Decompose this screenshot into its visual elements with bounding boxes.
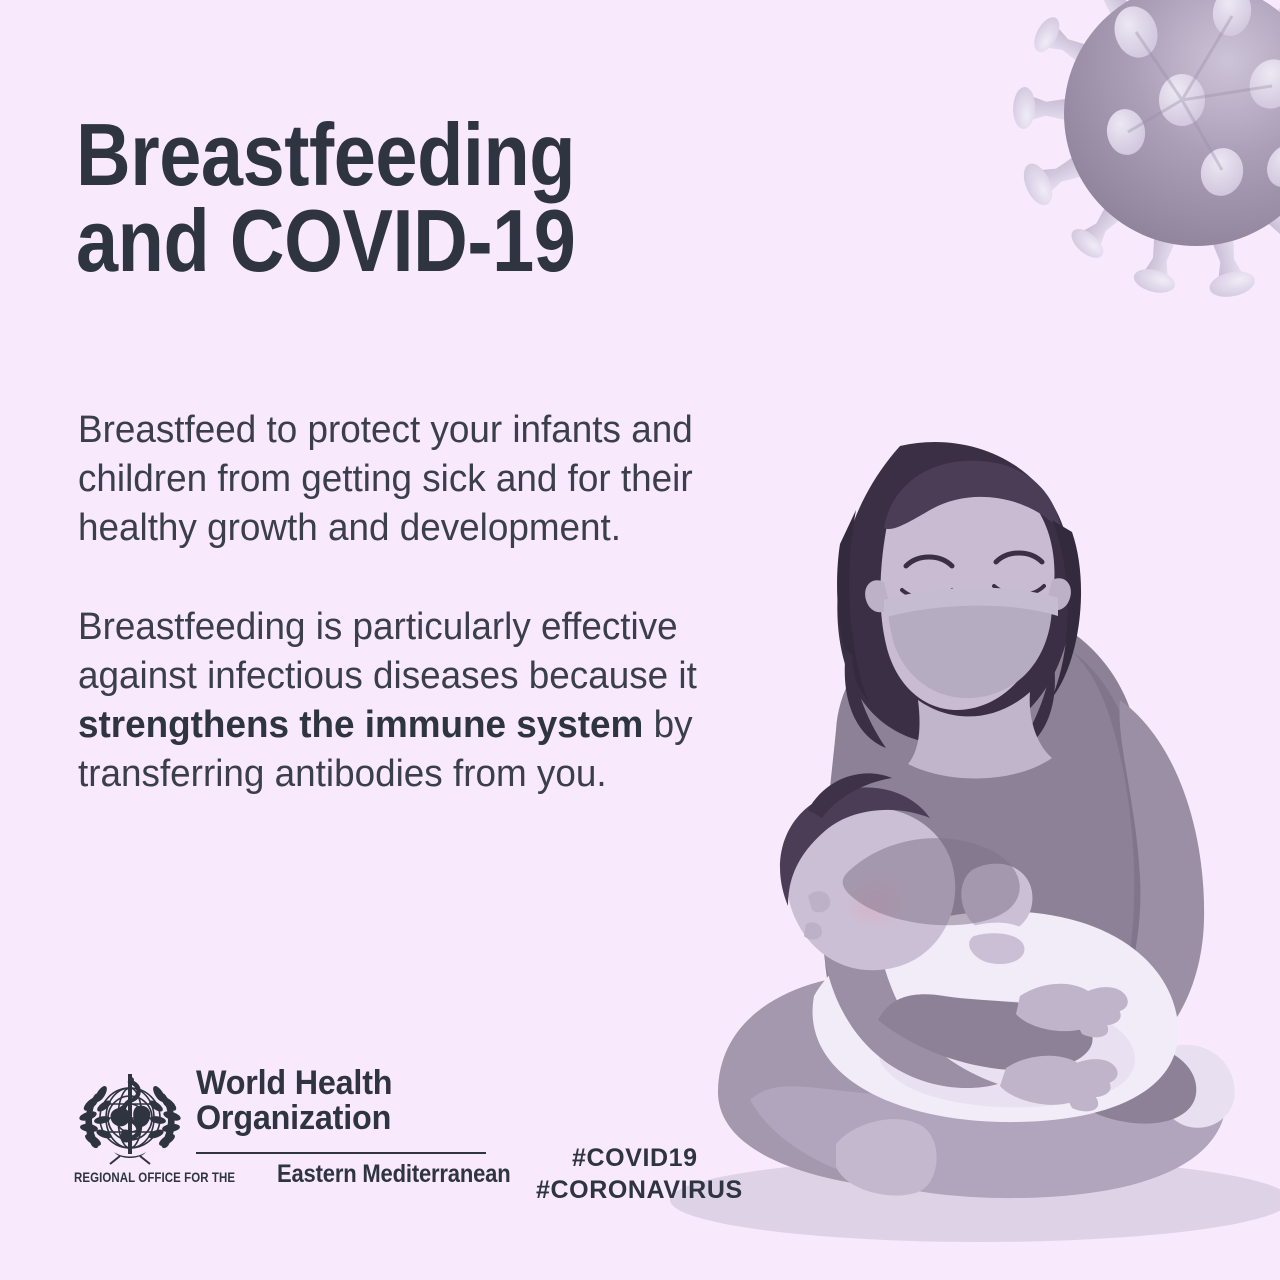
baby-ear (808, 891, 830, 912)
who-region-name: Eastern Mediterranean (277, 1160, 511, 1189)
who-name-line-1: World Health (196, 1066, 424, 1101)
paragraph-2: Breastfeeding is particularly effective … (78, 603, 796, 799)
who-name-line-2: Organization (196, 1101, 424, 1136)
shirt-drape (843, 838, 1020, 925)
mother-hair (837, 442, 1073, 744)
hashtag-block: #COVID19 #CORONAVIRUS (536, 1142, 743, 1206)
foot-left (836, 1119, 937, 1195)
ear-left (865, 580, 890, 612)
mother-face (880, 471, 1054, 710)
hair-side-left (837, 510, 868, 700)
arm-right (1100, 700, 1204, 1078)
hair-side-right (1052, 520, 1081, 698)
lash-left (902, 590, 952, 599)
who-name: World Health Organization (196, 1066, 424, 1135)
shirt-shadow (1070, 650, 1148, 1040)
page-title: Breastfeeding and COVID-19 (76, 112, 678, 284)
neckline (900, 609, 1060, 659)
poster-canvas: Breastfeeding and COVID-19 Breastfeed to… (0, 0, 1280, 1280)
baby-cheek (842, 874, 910, 930)
coronavirus-icon (986, 0, 1280, 324)
who-region: REGIONAL OFFICE FOR THE Eastern Mediterr… (74, 1160, 542, 1189)
ground-shadow (670, 1158, 1280, 1242)
forearm-left (878, 994, 1093, 1070)
hair-bottom-left (845, 650, 886, 748)
ear-right (1046, 578, 1071, 610)
body-copy: Breastfeed to protect your infants and c… (78, 406, 796, 799)
lash-right (994, 586, 1044, 595)
torso-shirt (823, 604, 1153, 1112)
front-leg (750, 1044, 1226, 1198)
neck (908, 692, 1052, 778)
who-logo: World Health Organization REGIONAL OFFIC… (74, 1066, 434, 1196)
baby-hair-tuft (808, 773, 892, 818)
paragraph-2-emphasis: strengthens the immune system (78, 704, 643, 746)
baby-nose (804, 922, 822, 939)
baby-swaddle (813, 911, 1179, 1122)
forearm-right (1072, 1040, 1197, 1124)
swaddle-fold (879, 1001, 1135, 1107)
hair-sweep (884, 461, 1062, 532)
baby-hair (780, 787, 930, 906)
who-name-block: World Health Organization (196, 1066, 436, 1135)
arm-left (821, 866, 998, 1088)
paragraph-1: Breastfeed to protect your infants and c… (78, 406, 796, 553)
baby-fist (961, 864, 1032, 934)
face-mask (888, 595, 1052, 698)
eye-left-closed (906, 557, 952, 566)
baby-sleeve (957, 923, 1035, 974)
baby-head (787, 807, 955, 970)
paragraph-2-lead: Breastfeeding is particularly effective … (78, 606, 697, 697)
who-region-prefix: REGIONAL OFFICE FOR THE (74, 1169, 235, 1185)
hashtag-coronavirus: #CORONAVIRUS (536, 1174, 743, 1206)
mask-strap (884, 588, 1058, 618)
legs-crossed (718, 973, 1161, 1192)
hand-upper (1016, 984, 1128, 1038)
title-line-2: and COVID-19 (76, 198, 678, 284)
eye-right-closed (996, 553, 1042, 562)
foot-right (1151, 1045, 1235, 1128)
paragraph-gap (78, 553, 796, 603)
baby-arm (969, 933, 1024, 964)
hand-lower (1000, 1056, 1118, 1112)
hair-bottom-right (1014, 652, 1055, 754)
hashtag-covid19: #COVID19 (536, 1142, 743, 1174)
who-divider (196, 1152, 486, 1154)
title-line-1: Breastfeeding (76, 112, 678, 198)
